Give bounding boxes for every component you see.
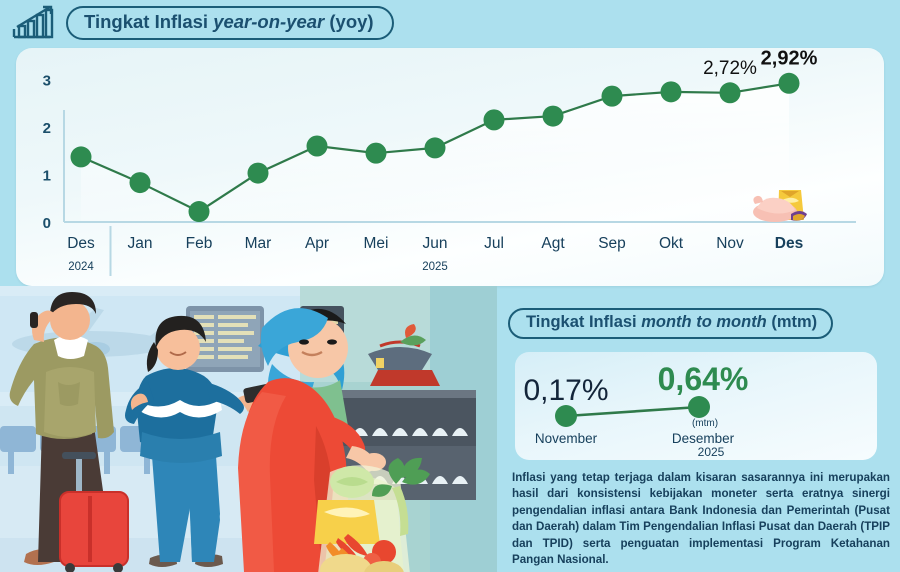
yoy-chart-card: 0123DesJanFebMarAprMeiJunJulAgtSepOktNov…	[16, 48, 884, 286]
yoy-title-part1: Tingkat Inflasi	[84, 11, 213, 32]
chart-data-point[interactable]	[189, 201, 210, 222]
x-axis-tick-label: Des	[775, 235, 803, 252]
chart-data-point[interactable]	[602, 86, 623, 107]
x-axis-tick-label: Mar	[245, 235, 272, 252]
x-axis-tick-label: Feb	[186, 235, 213, 252]
mtm-title-pill: Tingkat Inflasi month to month (mtm)	[508, 308, 833, 339]
infographic-root: Tingkat Inflasi year-on-year (yoy) 0123D…	[0, 0, 900, 572]
mtm-header: Tingkat Inflasi month to month (mtm)	[508, 308, 884, 339]
x-axis-tick-label: Mei	[364, 235, 389, 252]
x-axis-year-label: 2025	[422, 261, 448, 273]
yoy-line-chart: 0123DesJanFebMarAprMeiJunJulAgtSepOktNov…	[16, 48, 884, 286]
x-axis-year-label: 2024	[68, 261, 94, 273]
chart-data-point[interactable]	[543, 106, 564, 127]
y-axis-tick-label: 2	[43, 120, 51, 137]
chart-data-point[interactable]	[130, 172, 151, 193]
x-axis-tick-label: Okt	[659, 235, 684, 252]
yoy-header: Tingkat Inflasi year-on-year (yoy)	[10, 4, 394, 42]
x-axis-tick-label: Jun	[423, 235, 448, 252]
chart-data-point[interactable]	[779, 73, 800, 94]
yoy-title-part2: (yoy)	[324, 11, 373, 32]
x-axis-tick-label: Apr	[305, 235, 329, 252]
mtm-note-desember: (mtm)	[692, 418, 718, 429]
chart-data-point[interactable]	[720, 82, 741, 103]
chart-data-point[interactable]	[248, 163, 269, 184]
summary-paragraph: Inflasi yang tetap terjaga dalam kisaran…	[512, 470, 890, 569]
mtm-line-segment	[566, 407, 699, 416]
chart-value-label: 2,92%	[761, 48, 818, 69]
mtm-year-desember: 2025	[698, 445, 725, 459]
x-axis-tick-label: Jan	[128, 235, 153, 252]
mtm-line-chart: 0,17% 0,64% (mtm) November Desember 2025	[515, 352, 877, 460]
y-axis-tick-label: 1	[43, 168, 51, 185]
chart-data-point[interactable]	[71, 146, 92, 167]
mtm-label-desember: Desember	[672, 431, 735, 446]
chart-data-point[interactable]	[307, 136, 328, 157]
mtm-value-desember: 0,64%	[658, 361, 749, 397]
x-axis-tick-label: Jul	[484, 235, 504, 252]
x-axis-tick-label: Des	[67, 235, 95, 252]
chart-data-point[interactable]	[484, 109, 505, 130]
chart-data-point[interactable]	[366, 143, 387, 164]
mtm-title-part2: (mtm)	[767, 313, 817, 331]
x-axis-tick-label: Sep	[598, 235, 626, 252]
y-axis-tick-label: 0	[43, 215, 51, 232]
bar-chart-up-icon	[10, 5, 58, 41]
mtm-point-desember	[688, 396, 710, 418]
mtm-point-november	[555, 405, 577, 427]
chart-data-point[interactable]	[661, 81, 682, 102]
mtm-title-part1: Tingkat Inflasi	[526, 313, 641, 331]
travelers-and-grocery-shopper-illustration	[0, 286, 497, 572]
yoy-title-italic: year-on-year	[213, 11, 324, 32]
mtm-title-italic: month to month	[641, 313, 767, 331]
y-axis-tick-label: 3	[43, 73, 51, 90]
x-axis-tick-label: Agt	[541, 235, 565, 252]
mtm-chart-card: 0,17% 0,64% (mtm) November Desember 2025	[515, 352, 877, 460]
chart-data-point[interactable]	[425, 137, 446, 158]
mtm-label-november: November	[535, 431, 598, 446]
yoy-title-pill: Tingkat Inflasi year-on-year (yoy)	[66, 6, 394, 40]
mtm-value-november: 0,17%	[523, 374, 608, 407]
chart-value-label: 2,72%	[703, 58, 757, 79]
x-axis-tick-label: Nov	[716, 235, 744, 252]
